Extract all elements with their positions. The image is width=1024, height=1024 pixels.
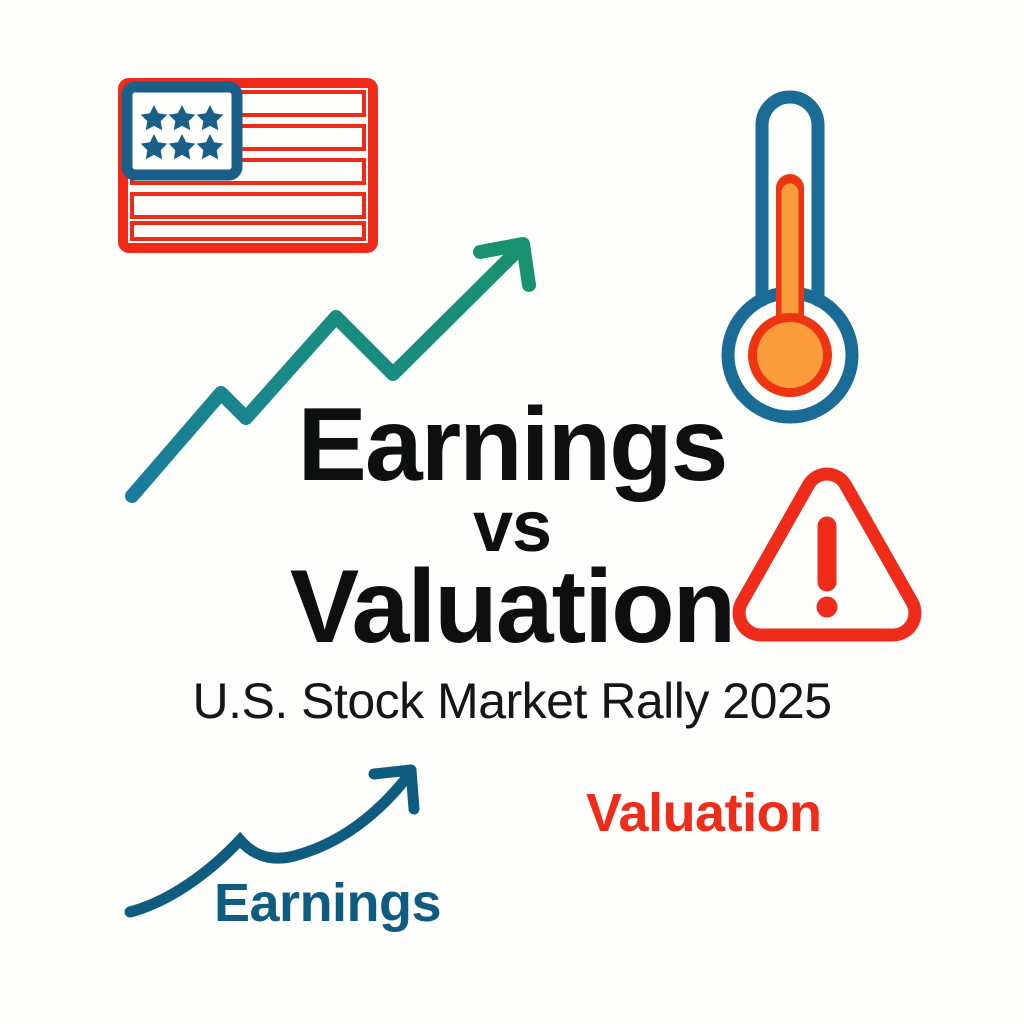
title-line-valuation: Valuation [0,560,1024,656]
title-line-earnings: Earnings [0,398,1024,494]
page-subtitle: U.S. Stock Market Rally 2025 [0,672,1024,730]
legend-label-earnings: Earnings [214,872,441,934]
poster-canvas: Earnings vs Valuation U.S. Stock Market … [0,0,1024,1024]
page-title: Earnings vs Valuation [0,398,1024,656]
legend-label-valuation: Valuation [586,782,822,844]
us-flag-icon [118,78,378,253]
thermometer-icon [700,70,880,450]
